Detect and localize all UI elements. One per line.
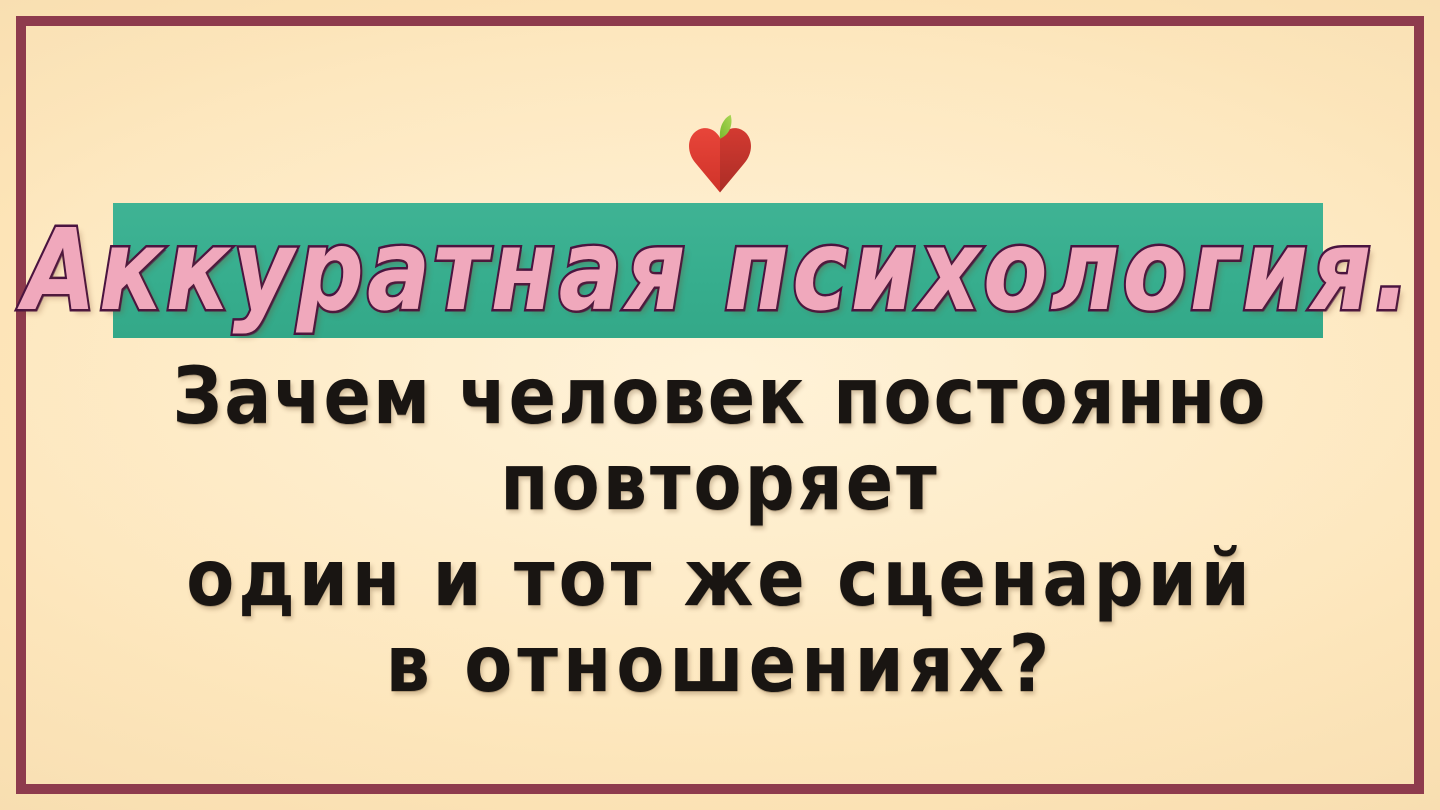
slide-canvas: Аккуратная психология. Зачем человек пос…	[0, 0, 1440, 810]
body-text-block: Зачем человек постоянно повторяет один и…	[0, 348, 1440, 702]
title-banner: Аккуратная психология.	[113, 203, 1323, 338]
body-line-4: в отношениях?	[0, 616, 1440, 712]
logo-container	[0, 108, 1440, 204]
heart-with-leaf-icon	[672, 108, 768, 204]
body-line-2: повторяет	[0, 434, 1440, 530]
body-line-1: Зачем человек постоянно	[0, 348, 1440, 444]
body-line-3: один и тот же сценарий	[0, 530, 1440, 626]
page-title: Аккуратная психология.	[23, 214, 1413, 326]
